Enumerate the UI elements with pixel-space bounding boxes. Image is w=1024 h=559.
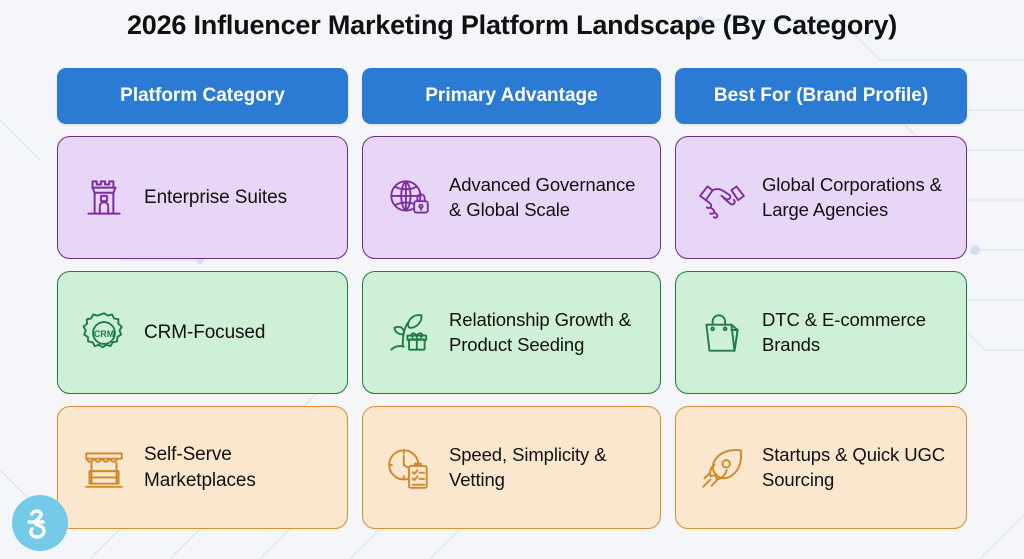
table-row[interactable]: Advanced Governance & Global Scale [362,136,661,259]
table-row[interactable]: Relationship Growth & Product Seeding [362,271,661,394]
table-header-platform-category[interactable]: Platform Category [57,68,348,124]
plant-gift-icon [383,307,435,359]
table-row[interactable]: Global Corporations & Large Agencies [675,136,967,259]
brand-logo[interactable] [12,495,68,551]
cell-label: DTC & E-commerce Brands [762,308,952,357]
table-row[interactable]: Speed, Simplicity & Vetting [362,406,661,529]
market-stall-icon [78,442,130,494]
clock-checklist-icon [383,442,435,494]
comparison-table: Platform Category Primary Advantage Best… [57,68,967,529]
table-row[interactable]: Enterprise Suites [57,136,348,259]
handshake-icon [696,172,748,224]
page-title: 2026 Influencer Marketing Platform Lands… [0,10,1024,41]
table-row[interactable]: CRM CRM-Focused [57,271,348,394]
infographic-page: 2026 Influencer Marketing Platform Lands… [0,0,1024,559]
cell-label: Global Corporations & Large Agencies [762,173,952,222]
rocket-icon [696,442,748,494]
table-row[interactable]: DTC & E-commerce Brands [675,271,967,394]
cell-label: Startups & Quick UGC Sourcing [762,443,952,492]
table-header-best-for[interactable]: Best For (Brand Profile) [675,68,967,124]
crm-gear-icon: CRM [78,307,130,359]
table-row[interactable]: Self-Serve Marketplaces [57,406,348,529]
cell-label: Advanced Governance & Global Scale [449,173,646,222]
cell-label: CRM-Focused [144,320,265,345]
cell-label: Enterprise Suites [144,185,287,210]
cell-label: Relationship Growth & Product Seeding [449,308,646,357]
globe-lock-icon [383,172,435,224]
cell-label: Self-Serve Marketplaces [144,442,333,492]
cell-label: Speed, Simplicity & Vetting [449,443,646,492]
castle-tower-icon [78,172,130,224]
table-header-primary-advantage[interactable]: Primary Advantage [362,68,661,124]
table-row[interactable]: Startups & Quick UGC Sourcing [675,406,967,529]
shopping-bag-icon [696,307,748,359]
crm-icon-text: CRM [94,328,114,338]
brand-logo-glyph [23,505,57,541]
